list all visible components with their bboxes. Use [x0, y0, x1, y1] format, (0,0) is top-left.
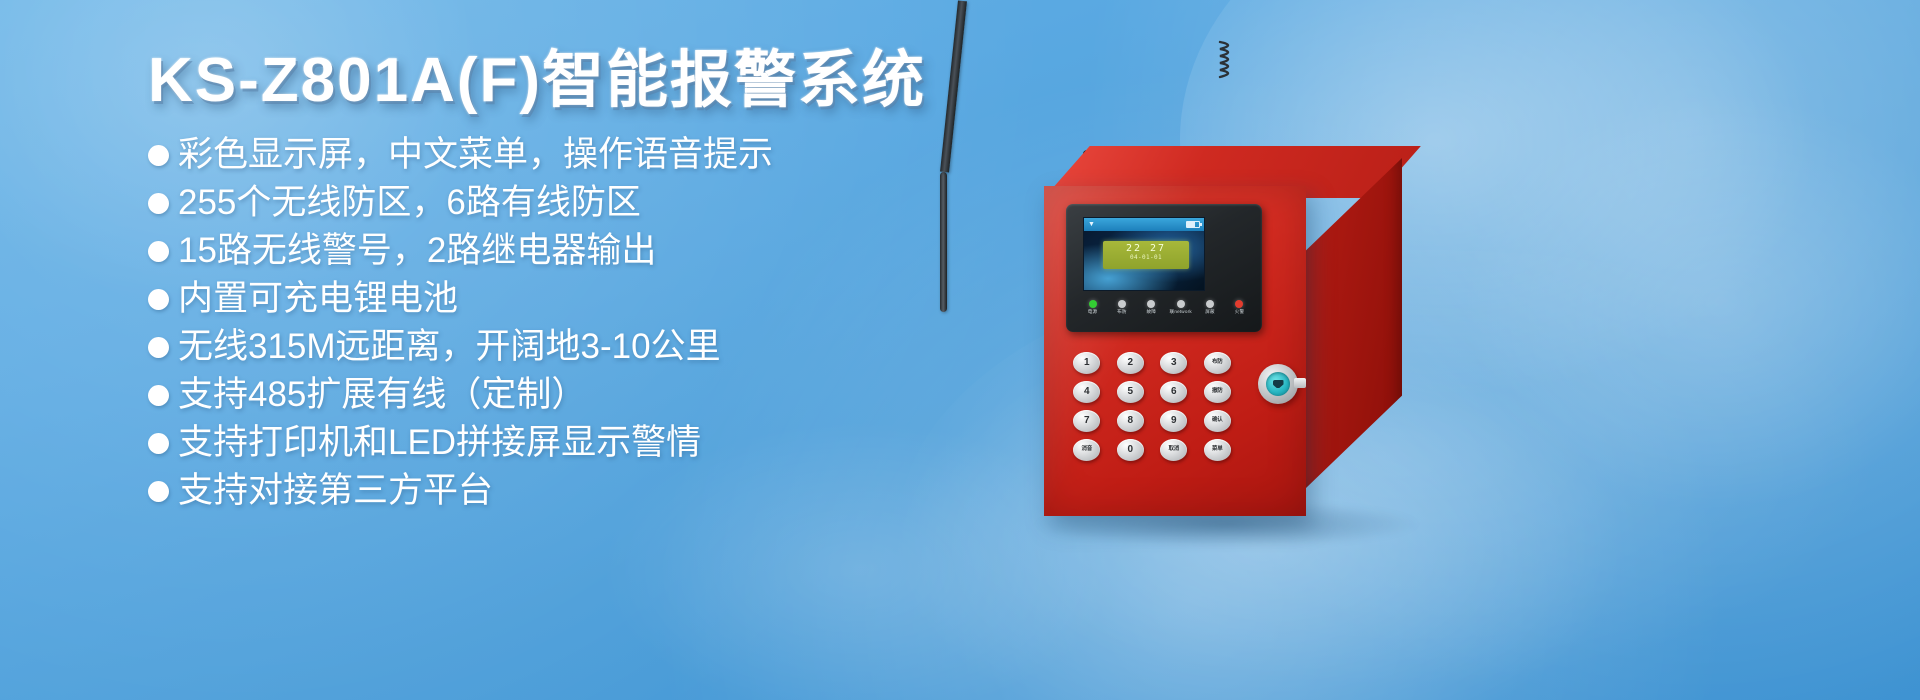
- keypad[interactable]: 1 2 3 布防 4 5 6 撤防 7 8 9 确认 消音 0 取消 菜单: [1068, 352, 1236, 464]
- key-confirm[interactable]: 确认: [1204, 410, 1231, 432]
- lock-core: [1266, 372, 1290, 396]
- lcd-display: ▼ 22 27 04-01-01: [1083, 217, 1205, 291]
- bullet-icon: [148, 193, 169, 214]
- led-dot-icon: [1177, 300, 1185, 308]
- antenna-whip-icon: [940, 172, 947, 312]
- key-7[interactable]: 7: [1073, 410, 1100, 432]
- bullet-icon: [148, 241, 169, 262]
- key-3[interactable]: 3: [1160, 352, 1187, 374]
- list-item: 支持485扩展有线（定制）: [148, 377, 968, 412]
- lcd-time: 22 27: [1103, 243, 1189, 254]
- list-item: 彩色显示屏，中文菜单，操作语音提示: [148, 137, 968, 172]
- lcd-clock: 22 27 04-01-01: [1103, 241, 1189, 269]
- indicator-label: 联network: [1168, 310, 1193, 315]
- list-item: 内置可充电锂电池: [148, 281, 968, 316]
- product-banner: KS-Z801A(F)智能报警系统 彩色显示屏，中文菜单，操作语音提示 255个…: [0, 0, 1920, 700]
- bullet-icon: [148, 481, 169, 502]
- cabinet-side: [1306, 158, 1402, 488]
- bullet-icon: [148, 337, 169, 358]
- lcd-date: 04-01-01: [1103, 254, 1189, 261]
- alarm-cabinet: ▼ 22 27 04-01-01 电源: [1044, 146, 1404, 516]
- feature-text: 255个无线防区，6路有线防区: [178, 185, 641, 220]
- key-menu[interactable]: 菜单: [1204, 439, 1231, 461]
- led-dot-icon: [1147, 300, 1155, 308]
- key-arm[interactable]: 布防: [1204, 352, 1231, 374]
- indicator-arm: 布防: [1109, 300, 1134, 315]
- list-item: 支持打印机和LED拼接屏显示警情: [148, 425, 968, 460]
- led-dot-icon: [1235, 300, 1243, 308]
- key-5[interactable]: 5: [1117, 381, 1144, 403]
- led-dot-icon: [1118, 300, 1126, 308]
- bullet-icon: [148, 385, 169, 406]
- feature-text: 支持打印机和LED拼接屏显示警情: [178, 425, 701, 460]
- control-panel: ▼ 22 27 04-01-01 电源: [1066, 204, 1262, 332]
- indicator-network: 联network: [1168, 300, 1193, 315]
- key-0[interactable]: 0: [1117, 439, 1144, 461]
- led-dot-icon: [1206, 300, 1214, 308]
- feature-list: 彩色显示屏，中文菜单，操作语音提示 255个无线防区，6路有线防区 15路无线警…: [148, 137, 968, 508]
- battery-icon: [1186, 221, 1200, 228]
- indicator-fault: 故障: [1139, 300, 1164, 315]
- feature-text: 支持485扩展有线（定制）: [178, 377, 586, 412]
- key-6[interactable]: 6: [1160, 381, 1187, 403]
- list-item: 支持对接第三方平台: [148, 473, 968, 508]
- indicator-fire-alarm: 火警: [1227, 300, 1252, 315]
- indicator-label: 故障: [1139, 310, 1164, 315]
- key-8[interactable]: 8: [1117, 410, 1144, 432]
- bullet-icon: [148, 145, 169, 166]
- key-lock-icon[interactable]: [1258, 364, 1298, 404]
- key-9[interactable]: 9: [1160, 410, 1187, 432]
- key-disarm[interactable]: 撤防: [1204, 381, 1231, 403]
- list-item: 无线315M远距离，开阔地3-10公里: [148, 329, 968, 364]
- list-item: 15路无线警号，2路继电器输出: [148, 233, 968, 268]
- key-mute[interactable]: 消音: [1073, 439, 1100, 461]
- feature-text: 内置可充电锂电池: [178, 281, 458, 316]
- key-4[interactable]: 4: [1073, 381, 1100, 403]
- signal-icon: ▼: [1088, 221, 1095, 228]
- key-1[interactable]: 1: [1073, 352, 1100, 374]
- feature-text: 支持对接第三方平台: [178, 473, 493, 508]
- list-item: 255个无线防区，6路有线防区: [148, 185, 968, 220]
- indicator-label: 电源: [1080, 310, 1105, 315]
- key-2[interactable]: 2: [1117, 352, 1144, 374]
- antenna-coil-icon: [1212, 38, 1244, 90]
- feature-text: 无线315M远距离，开阔地3-10公里: [178, 329, 721, 364]
- indicator-power: 电源: [1080, 300, 1105, 315]
- lcd-status-bar: ▼: [1084, 218, 1204, 231]
- feature-text: 15路无线警号，2路继电器输出: [178, 233, 656, 268]
- bullet-icon: [148, 433, 169, 454]
- lock-keyhole: [1273, 380, 1284, 388]
- product-image: ▼ 22 27 04-01-01 电源: [940, 0, 1920, 700]
- page-title: KS-Z801A(F)智能报警系统: [148, 46, 968, 115]
- copy-block: KS-Z801A(F)智能报警系统 彩色显示屏，中文菜单，操作语音提示 255个…: [148, 46, 968, 521]
- feature-text: 彩色显示屏，中文菜单，操作语音提示: [178, 137, 773, 172]
- indicator-label: 布防: [1109, 310, 1134, 315]
- indicator-label: 火警: [1227, 310, 1252, 315]
- indicator-led-row: 电源 布防 故障 联network: [1080, 300, 1252, 315]
- led-dot-icon: [1089, 300, 1097, 308]
- indicator-bypass: 屏蔽: [1198, 300, 1223, 315]
- lock-tab: [1294, 378, 1306, 388]
- antenna-rod-icon: [940, 0, 967, 172]
- key-cancel[interactable]: 取消: [1160, 439, 1187, 461]
- bullet-icon: [148, 289, 169, 310]
- indicator-label: 屏蔽: [1198, 310, 1223, 315]
